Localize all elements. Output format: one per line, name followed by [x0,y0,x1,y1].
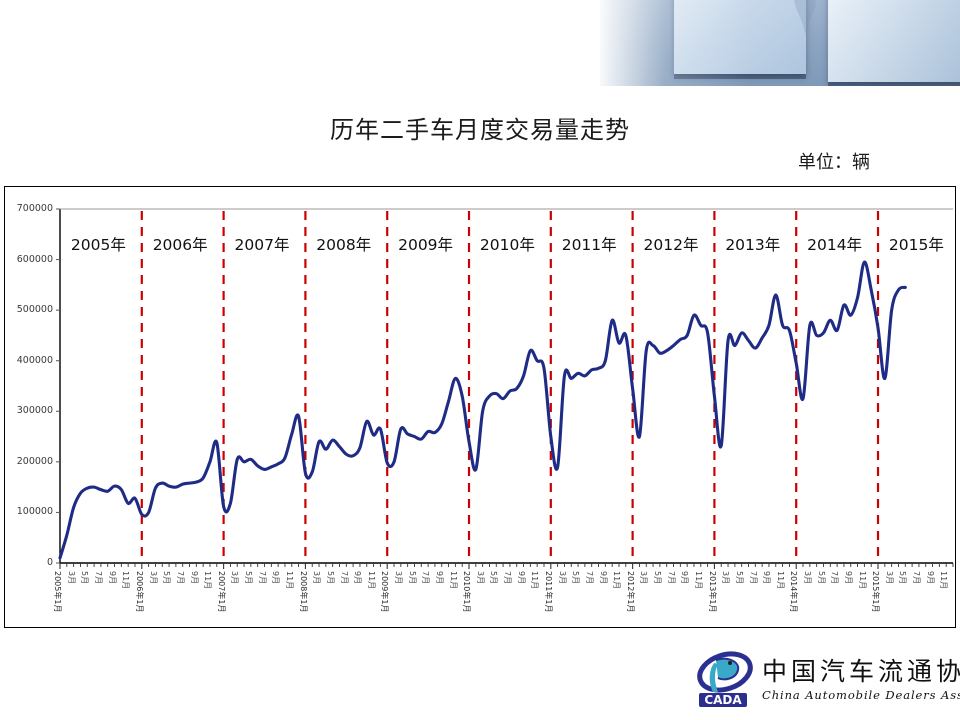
x-axis-tick-label: 9月 [679,571,690,584]
unit-label: 单位：辆 [798,148,870,174]
cada-abbr-text: CADA [704,693,742,707]
x-axis-tick-label: 11月 [775,571,786,589]
year-band-label: 2009年 [398,233,453,255]
x-axis-tick-label: 7月 [584,571,595,584]
y-axis-tick-label: 400000 [5,355,53,366]
chart-axis-ticks [56,209,953,569]
x-axis-tick-label: 3月 [638,571,649,584]
x-axis-tick-label: 3月 [66,571,77,584]
x-axis-tick-label: 5月 [325,571,336,584]
year-band-label: 2010年 [480,233,535,255]
cada-logo: CADA 中国汽车流通协会 China Automobile Dealers A… [694,646,956,714]
x-axis-tick-label: 2015年1月 [870,571,881,612]
x-axis-tick-label: 11月 [529,571,540,589]
header-decorative-image [600,0,960,88]
header-divider-rule [0,86,960,88]
year-band-label: 2014年 [807,233,862,255]
x-axis-tick-label: 7月 [175,571,186,584]
y-axis-tick-label: 500000 [5,304,53,315]
x-axis-tick-label: 7月 [420,571,431,584]
x-axis-tick-label: 7月 [829,571,840,584]
x-axis-tick-label: 9月 [107,571,118,584]
year-band-label: 2013年 [725,233,780,255]
x-axis-tick-label: 11月 [693,571,704,589]
x-axis-tick-label: 3月 [229,571,240,584]
x-axis-tick-label: 3月 [557,571,568,584]
x-axis-tick-label: 2005年1月 [52,571,63,612]
x-axis-tick-label: 3月 [311,571,322,584]
data-series-line [60,262,905,558]
x-axis-tick-label: 2008年1月 [298,571,309,612]
x-axis-tick-label: 11月 [448,571,459,589]
x-axis-tick-label: 5月 [570,571,581,584]
x-axis-tick-label: 5月 [652,571,663,584]
x-axis-tick-label: 3月 [148,571,159,584]
x-axis-tick-label: 3月 [475,571,486,584]
page-title: 历年二手车月度交易量走势 [0,110,960,145]
x-axis-tick-label: 3月 [720,571,731,584]
x-axis-tick-label: 11月 [938,571,949,589]
x-axis-tick-label: 7月 [911,571,922,584]
x-axis-tick-label: 7月 [339,571,350,584]
x-axis-tick-label: 2009年1月 [379,571,390,612]
x-axis-tick-label: 5月 [79,571,90,584]
x-axis-tick-label: 7月 [93,571,104,584]
year-band-label: 2007年 [235,233,290,255]
x-axis-tick-label: 9月 [270,571,281,584]
x-axis-tick-label: 7月 [666,571,677,584]
x-axis-tick-label: 5月 [161,571,172,584]
x-axis-tick-label: 9月 [352,571,363,584]
year-band-label: 2011年 [562,233,617,255]
year-divider-lines [142,211,878,563]
x-axis-tick-label: 7月 [502,571,513,584]
x-axis-tick-label: 2006年1月 [134,571,145,612]
slide-header-banner [0,0,960,88]
x-axis-tick-label: 3月 [802,571,813,584]
year-band-label: 2005年 [71,233,126,255]
x-axis-tick-label: 5月 [897,571,908,584]
y-axis-tick-label: 200000 [5,456,53,467]
x-axis-tick-label: 2010年1月 [461,571,472,612]
x-axis-tick-label: 9月 [434,571,445,584]
x-axis-tick-label: 2011年1月 [543,571,554,612]
x-axis-tick-label: 9月 [598,571,609,584]
org-name-cn: 中国汽车流通协会 [762,652,960,688]
x-axis-tick-label: 5月 [734,571,745,584]
year-band-label: 2006年 [153,233,208,255]
org-name-en: China Automobile Dealers Association [762,688,960,702]
x-axis-tick-label: 2012年1月 [625,571,636,612]
x-axis-tick-label: 11月 [284,571,295,589]
x-axis-tick-label: 7月 [748,571,759,584]
year-band-label: 2012年 [644,233,699,255]
x-axis-tick-label: 9月 [843,571,854,584]
x-axis-tick-label: 3月 [393,571,404,584]
x-axis-tick-label: 11月 [366,571,377,589]
x-axis-tick-label: 2014年1月 [788,571,799,612]
x-axis-tick-label: 11月 [611,571,622,589]
x-axis-tick-label: 5月 [488,571,499,584]
x-axis-tick-label: 11月 [120,571,131,589]
x-axis-tick-label: 2013年1月 [707,571,718,612]
cada-logo-mark-icon: CADA [694,648,756,710]
header-gradient-sheen [600,0,960,88]
x-axis-tick-label: 5月 [243,571,254,584]
x-axis-tick-label: 7月 [257,571,268,584]
x-axis-tick-label: 9月 [761,571,772,584]
x-axis-tick-label: 9月 [189,571,200,584]
x-axis-tick-label: 11月 [202,571,213,589]
year-band-label: 2015年 [889,233,944,255]
x-axis-tick-label: 11月 [857,571,868,589]
y-axis-tick-label: 100000 [5,506,53,517]
y-axis-tick-label: 300000 [5,405,53,416]
x-axis-tick-label: 9月 [925,571,936,584]
x-axis-tick-label: 5月 [407,571,418,584]
year-band-label: 2008年 [316,233,371,255]
x-axis-tick-label: 2007年1月 [216,571,227,612]
y-axis-tick-label: 600000 [5,254,53,265]
x-axis-tick-label: 5月 [816,571,827,584]
chart-axes [60,209,953,563]
x-axis-tick-label: 3月 [884,571,895,584]
y-axis-tick-label: 0 [5,557,53,568]
chart-container: 0100000200000300000400000500000600000700… [4,186,956,628]
y-axis-tick-label: 700000 [5,203,53,214]
x-axis-tick-label: 9月 [516,571,527,584]
